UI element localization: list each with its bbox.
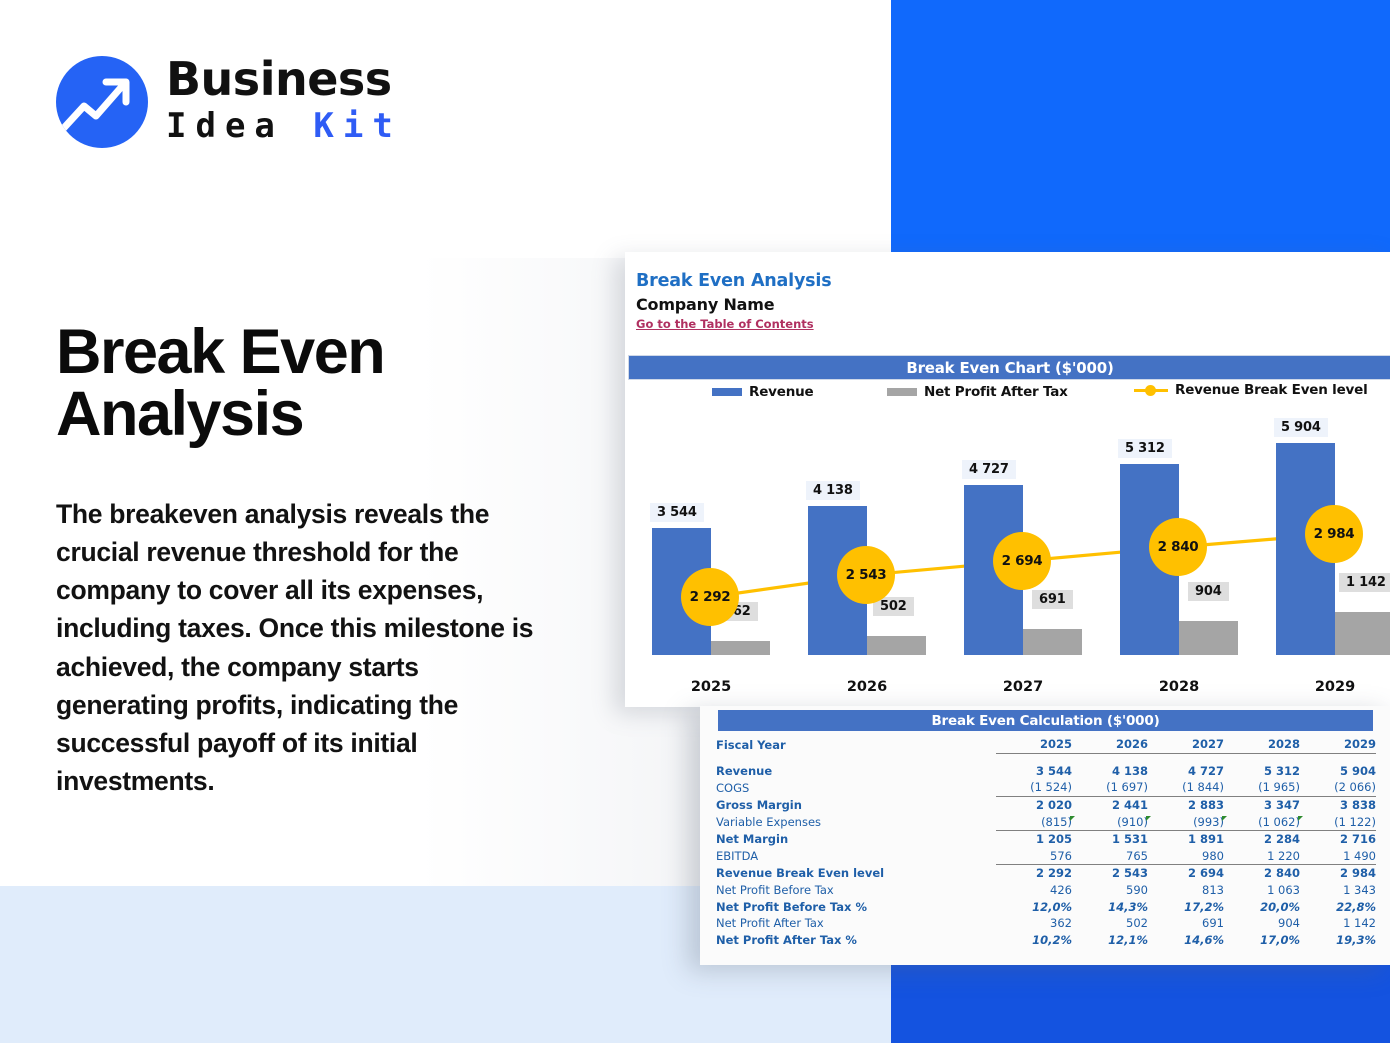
table-header-2027: 2027 (1148, 736, 1224, 753)
sheet-title: Break Even Analysis (636, 271, 831, 291)
legend-swatch-net-profit-after-tax (887, 388, 917, 396)
legend-item-net-profit-after-tax[interactable]: Net Profit After Tax (887, 384, 1068, 400)
chart-card: Break Even Analysis Company Name Go to t… (625, 252, 1390, 707)
data-label-revenue-2029: 5 904 (1274, 418, 1328, 437)
data-label-net-profit-after-tax-2028: 904 (1188, 582, 1229, 601)
x-axis-label-2026: 2026 (808, 679, 926, 695)
row-label-gross-margin: Gross Margin (716, 796, 996, 813)
cell-ebitda-2025: 576 (996, 848, 1072, 865)
cell-npbt-pct-2025: 12,0% (996, 898, 1072, 915)
cell-npat-2029: 1 142 (1300, 915, 1376, 932)
bar-net-profit-after-tax-2027[interactable] (1023, 629, 1082, 655)
cell-revenue-2027: 4 727 (1148, 763, 1224, 780)
table-row[interactable]: Net Margin 1 205 1 531 1 891 2 284 2 716 (716, 830, 1376, 847)
table-of-contents-link[interactable]: Go to the Table of Contents (636, 317, 814, 331)
cell-npbt-2025: 426 (996, 882, 1072, 899)
row-label-net-profit-after-tax-pct: Net Profit After Tax % (716, 932, 996, 949)
legend-swatch-revenue (712, 388, 742, 396)
cell-npbt-pct-2026: 14,3% (1072, 898, 1148, 915)
cell-net-margin-2026: 1 531 (1072, 830, 1148, 847)
cell-revenue-2029: 5 904 (1300, 763, 1376, 780)
legend-item-break-even-level[interactable]: Revenue Break Even level (1134, 382, 1368, 398)
row-label-net-profit-before-tax: Net Profit Before Tax (716, 882, 996, 899)
data-label-revenue-2028: 5 312 (1118, 439, 1172, 458)
table-row[interactable]: EBITDA 576 765 980 1 220 1 490 (716, 848, 1376, 865)
cell-npbt-pct-2029: 22,8% (1300, 898, 1376, 915)
cell-npat-pct-2029: 19,3% (1300, 932, 1376, 949)
cell-net-margin-2028: 2 284 (1224, 830, 1300, 847)
cell-ebitda-2027: 980 (1148, 848, 1224, 865)
company-name: Company Name (636, 295, 774, 314)
data-label-revenue-2027: 4 727 (962, 460, 1016, 479)
cell-break-even-2028: 2 840 (1224, 865, 1300, 882)
data-label-net-profit-after-tax-2027: 691 (1032, 590, 1073, 609)
page-description: The breakeven analysis reveals the cruci… (56, 495, 546, 800)
page-title: Break Even Analysis (56, 322, 526, 445)
bar-net-profit-after-tax-2026[interactable] (867, 636, 926, 655)
table-header-2029: 2029 (1300, 736, 1376, 753)
row-label-ebitda: EBITDA (716, 848, 996, 865)
row-label-revenue-break-even-level: Revenue Break Even level (716, 865, 996, 882)
table-row[interactable]: Revenue Break Even level 2 292 2 543 2 6… (716, 865, 1376, 882)
cell-npat-pct-2028: 17,0% (1224, 932, 1300, 949)
row-label-cogs: COGS (716, 779, 996, 796)
brand-idea: Idea (166, 106, 284, 146)
cell-revenue-2025: 3 544 (996, 763, 1072, 780)
legend-label-net-profit-after-tax: Net Profit After Tax (924, 384, 1068, 400)
bar-net-profit-after-tax-2025[interactable] (711, 641, 770, 655)
background-block-bottom-right (891, 965, 1390, 1043)
cell-npbt-2027: 813 (1148, 882, 1224, 899)
row-label-net-margin: Net Margin (716, 830, 996, 847)
growth-arrow-icon (56, 56, 148, 148)
table-row[interactable]: Net Profit After Tax % 10,2% 12,1% 14,6%… (716, 932, 1376, 949)
legend-label-revenue: Revenue (749, 384, 814, 400)
table-row[interactable]: COGS (1 524) (1 697) (1 844) (1 965) (2 … (716, 779, 1376, 796)
cell-variable-expenses-2025: (815) (996, 813, 1072, 830)
cell-npat-2028: 904 (1224, 915, 1300, 932)
bar-net-profit-after-tax-2029[interactable] (1335, 612, 1390, 655)
cell-net-margin-2025: 1 205 (996, 830, 1072, 847)
table-header-2025: 2025 (996, 736, 1072, 753)
cell-variable-expenses-2028: (1 062) (1224, 813, 1300, 830)
bubble-break-even-2027[interactable]: 2 694 (993, 532, 1051, 590)
cell-cogs-2029: (2 066) (1300, 779, 1376, 796)
data-label-revenue-2025: 3 544 (650, 503, 704, 522)
data-label-net-profit-after-tax-2029: 1 142 (1339, 573, 1390, 592)
brand-logo: Business Idea Kit (56, 52, 456, 156)
cell-gross-margin-2025: 2 020 (996, 796, 1072, 813)
table-title: Break Even Calculation ($'000) (718, 710, 1373, 731)
row-label-variable-expenses: Variable Expenses (716, 813, 996, 830)
bubble-break-even-2028[interactable]: 2 840 (1149, 518, 1207, 576)
bubble-break-even-2025[interactable]: 2 292 (681, 568, 739, 626)
cell-revenue-2028: 5 312 (1224, 763, 1300, 780)
legend-marker-break-even-level (1134, 384, 1168, 396)
cell-variable-expenses-2029: (1 122) (1300, 813, 1376, 830)
cell-npat-pct-2025: 10,2% (996, 932, 1072, 949)
table-row[interactable]: Gross Margin 2 020 2 441 2 883 3 347 3 8… (716, 796, 1376, 813)
cell-cogs-2025: (1 524) (996, 779, 1072, 796)
chart-plot-area: 3 544 362 2 292 2025 4 138 502 2 543 202… (628, 412, 1390, 707)
cell-npat-2026: 502 (1072, 915, 1148, 932)
row-label-net-profit-after-tax: Net Profit After Tax (716, 915, 996, 932)
cell-gross-margin-2026: 2 441 (1072, 796, 1148, 813)
cell-gross-margin-2027: 2 883 (1148, 796, 1224, 813)
table-header-fiscal-year: Fiscal Year (716, 736, 996, 753)
break-even-calculation-table: Fiscal Year 2025 2026 2027 2028 2029 Rev… (716, 736, 1376, 948)
chart-legend: Revenue Net Profit After Tax Revenue Bre… (628, 382, 1390, 404)
calculation-card: Break Even Calculation ($'000) Fiscal Ye… (700, 706, 1390, 965)
cell-ebitda-2029: 1 490 (1300, 848, 1376, 865)
cell-gross-margin-2028: 3 347 (1224, 796, 1300, 813)
cell-cogs-2028: (1 965) (1224, 779, 1300, 796)
background-block-top-right (891, 0, 1390, 258)
bubble-break-even-2029[interactable]: 2 984 (1305, 505, 1363, 563)
brand-name-line1: Business (166, 52, 402, 106)
cell-npat-pct-2026: 12,1% (1072, 932, 1148, 949)
cell-npat-2027: 691 (1148, 915, 1224, 932)
cell-ebitda-2026: 765 (1072, 848, 1148, 865)
cell-ebitda-2028: 1 220 (1224, 848, 1300, 865)
cell-npbt-pct-2027: 17,2% (1148, 898, 1224, 915)
table-row[interactable]: Variable Expenses (815) (910) (993) (1 0… (716, 813, 1376, 830)
brand-name-line2: Idea Kit (166, 106, 402, 146)
cell-npat-2025: 362 (996, 915, 1072, 932)
cell-variable-expenses-2026: (910) (1072, 813, 1148, 830)
legend-item-revenue[interactable]: Revenue (712, 384, 814, 400)
cell-net-margin-2029: 2 716 (1300, 830, 1376, 847)
table-header-2026: 2026 (1072, 736, 1148, 753)
cell-break-even-2029: 2 984 (1300, 865, 1376, 882)
table-row[interactable]: Revenue 3 544 4 138 4 727 5 312 5 904 (716, 763, 1376, 780)
cell-npbt-2029: 1 343 (1300, 882, 1376, 899)
cell-variable-expenses-2027: (993) (1148, 813, 1224, 830)
x-axis-label-2028: 2028 (1120, 679, 1238, 695)
cell-gross-margin-2029: 3 838 (1300, 796, 1376, 813)
table-spacer-row (716, 753, 1376, 763)
cell-net-margin-2027: 1 891 (1148, 830, 1224, 847)
x-axis-label-2029: 2029 (1276, 679, 1390, 695)
table-row[interactable]: Net Profit Before Tax % 12,0% 14,3% 17,2… (716, 898, 1376, 915)
table-header-row: Fiscal Year 2025 2026 2027 2028 2029 (716, 736, 1376, 753)
row-label-net-profit-before-tax-pct: Net Profit Before Tax % (716, 898, 996, 915)
cell-npat-pct-2027: 14,6% (1148, 932, 1224, 949)
cell-break-even-2027: 2 694 (1148, 865, 1224, 882)
cell-cogs-2027: (1 844) (1148, 779, 1224, 796)
brand-kit: Kit (313, 106, 401, 146)
legend-label-break-even-level: Revenue Break Even level (1175, 382, 1368, 398)
bubble-break-even-2026[interactable]: 2 543 (837, 546, 895, 604)
cell-npbt-pct-2028: 20,0% (1224, 898, 1300, 915)
row-label-revenue: Revenue (716, 763, 996, 780)
bar-net-profit-after-tax-2028[interactable] (1179, 621, 1238, 655)
x-axis-label-2025: 2025 (652, 679, 770, 695)
chart-title: Break Even Chart ($'000) (628, 355, 1390, 380)
cell-npbt-2028: 1 063 (1224, 882, 1300, 899)
x-axis-label-2027: 2027 (964, 679, 1082, 695)
table-row[interactable]: Net Profit After Tax 362 502 691 904 1 1… (716, 915, 1376, 932)
cell-break-even-2025: 2 292 (996, 865, 1072, 882)
table-header-2028: 2028 (1224, 736, 1300, 753)
cell-cogs-2026: (1 697) (1072, 779, 1148, 796)
cell-break-even-2026: 2 543 (1072, 865, 1148, 882)
data-label-revenue-2026: 4 138 (806, 481, 860, 500)
table-row[interactable]: Net Profit Before Tax 426 590 813 1 063 … (716, 882, 1376, 899)
cell-npbt-2026: 590 (1072, 882, 1148, 899)
cell-revenue-2026: 4 138 (1072, 763, 1148, 780)
